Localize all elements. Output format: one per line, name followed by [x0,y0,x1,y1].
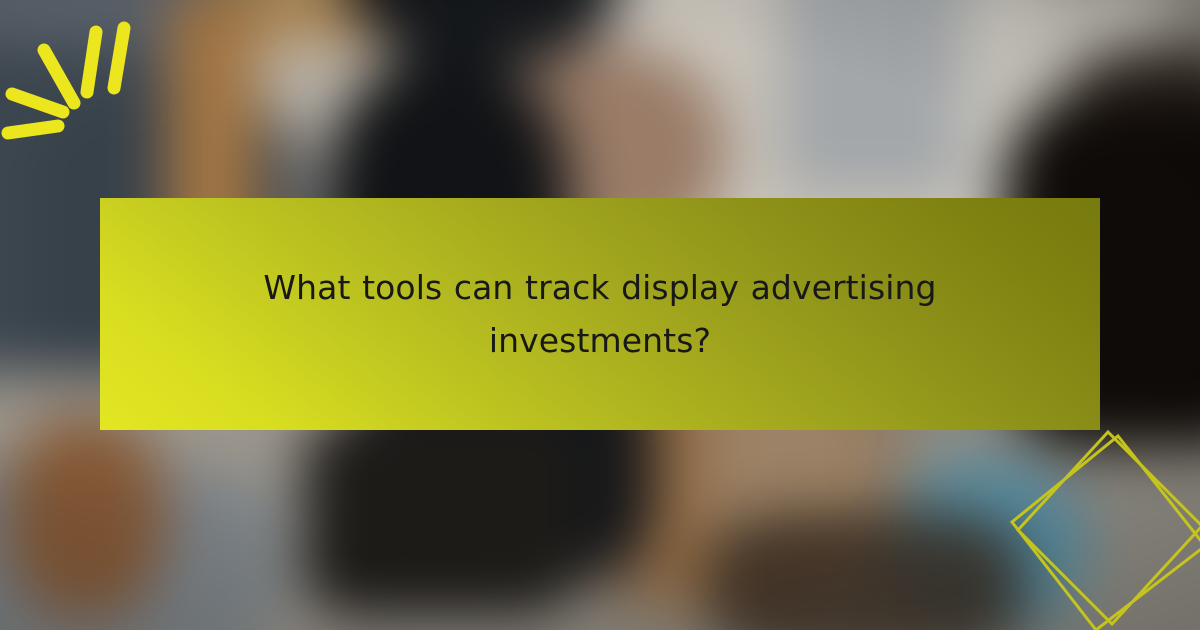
headline-banner: What tools can track display advertising… [100,198,1100,430]
page-title: What tools can track display advertising… [220,261,980,368]
poster-canvas: What tools can track display advertising… [0,0,1200,630]
